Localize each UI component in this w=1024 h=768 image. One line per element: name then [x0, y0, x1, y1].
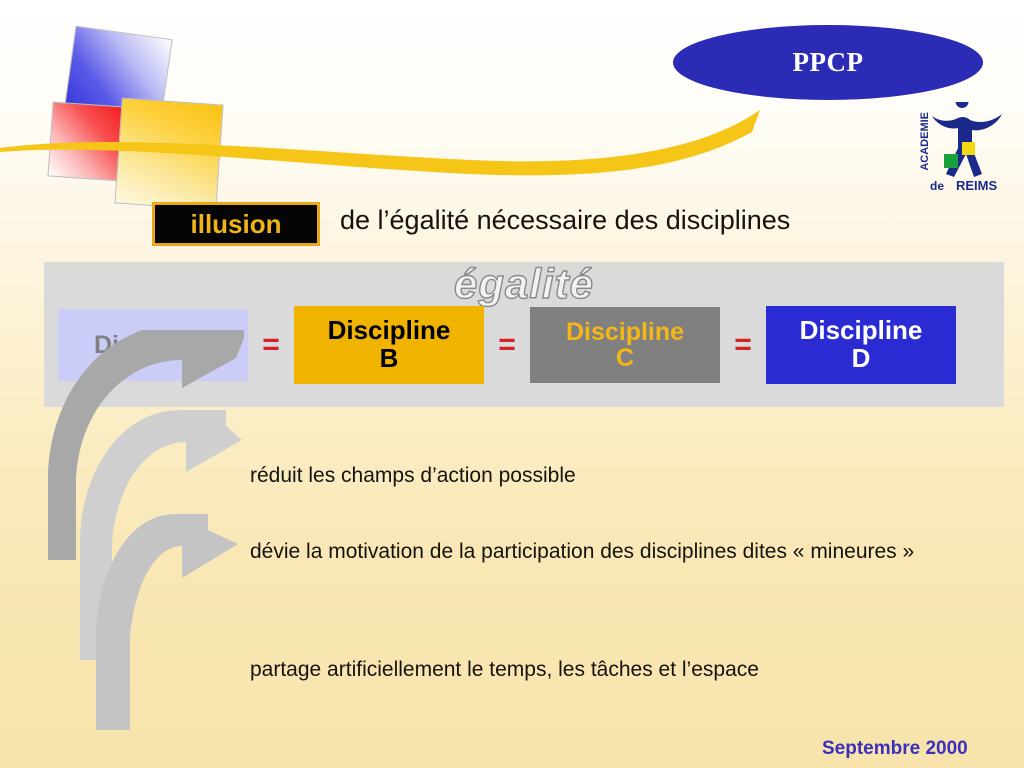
bullet-item-1: réduit les champs d’action possible [250, 462, 576, 490]
discipline-d-name: Discipline [800, 317, 923, 345]
decorative-square-red [47, 102, 126, 182]
discipline-row: Discipline = Discipline B = Discipline C… [58, 306, 990, 384]
footer-date: Septembre 2000 [822, 738, 968, 760]
equality-band: égalité Discipline = Discipline B = Disc… [44, 262, 1004, 407]
discipline-box-d: Discipline D [766, 306, 956, 384]
discipline-c-letter: C [616, 345, 634, 372]
bullet-item-3: partage artificiellement le temps, les t… [250, 656, 759, 684]
ppcp-ellipse-badge: PPCP [673, 25, 983, 100]
decorative-square-yellow [114, 98, 223, 211]
discipline-c-name: Discipline [566, 319, 684, 346]
equals-sign-3: = [720, 328, 766, 362]
logo-academie-text: ACADEMIE [919, 112, 931, 171]
discipline-d-letter: D [852, 345, 871, 373]
discipline-b-name: Discipline [328, 317, 451, 345]
egalite-heading: égalité [44, 260, 1004, 308]
bullet-item-2: dévie la motivation de la participation … [250, 538, 950, 566]
ppcp-label: PPCP [793, 47, 864, 78]
discipline-a-name: Discipline [94, 332, 212, 359]
discipline-box-b: Discipline B [294, 306, 484, 384]
illusion-label: illusion [191, 209, 282, 240]
discipline-box-c: Discipline C [530, 307, 720, 383]
discipline-box-a: Discipline [58, 309, 248, 381]
logo-reims-text: REIMS [956, 178, 998, 193]
slide-canvas: PPCP ACADEMIE de REIMS illusion de l’éga… [0, 0, 1024, 768]
page-title: de l’égalité nécessaire des disciplines [340, 205, 790, 236]
equals-sign-1: = [248, 328, 294, 362]
academie-de-reims-logo: ACADEMIE de REIMS [912, 102, 1008, 194]
discipline-b-letter: B [380, 345, 399, 373]
illusion-badge: illusion [152, 202, 320, 246]
equals-sign-2: = [484, 328, 530, 362]
logo-de-text: de [930, 179, 944, 193]
